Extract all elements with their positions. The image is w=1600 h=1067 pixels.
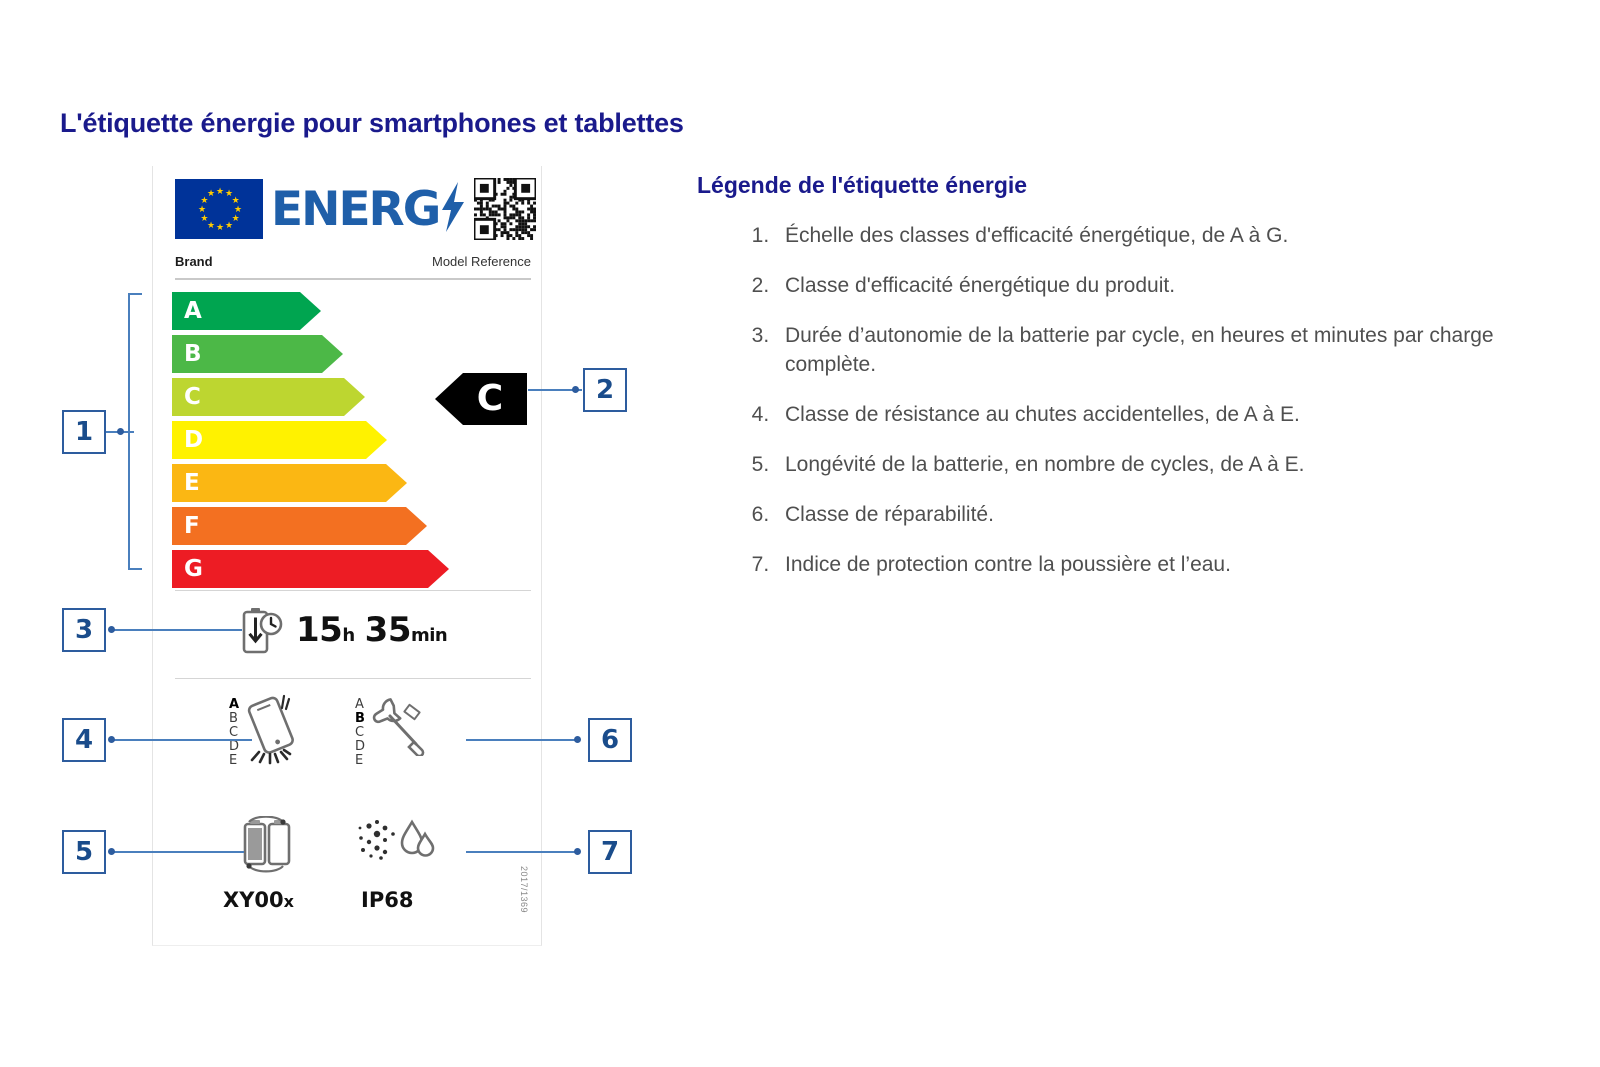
- repairability-grade-d: D: [355, 740, 365, 754]
- divider-top: [175, 278, 531, 280]
- ingress-protection-caption: IP68: [361, 888, 413, 912]
- drop-resistance-grade-c: C: [229, 726, 239, 740]
- repairability-grade-scale: ABCDE: [355, 694, 365, 768]
- drop-resistance-cell: ABCDE: [229, 694, 300, 771]
- cycles-suffix: x: [284, 892, 294, 911]
- battery-runtime-row: 15h35min: [239, 606, 447, 659]
- callout-7[interactable]: 7: [588, 830, 632, 874]
- model-reference: Model Reference: [432, 254, 531, 269]
- bar-tip: [344, 378, 365, 416]
- callout-3-dot: [108, 626, 115, 633]
- callout-1[interactable]: 1: [62, 410, 106, 454]
- eu-star-icon: ★: [207, 190, 213, 196]
- eu-star-icon: ★: [200, 197, 206, 203]
- repairability-cell: ABCDE: [355, 694, 432, 768]
- selected-class-letter: C: [477, 381, 503, 417]
- bar-tip: [428, 550, 449, 588]
- bar-body: G: [172, 550, 428, 588]
- eu-flag-icon: ★★★★★★★★★★★★: [175, 179, 263, 239]
- page-root: L'étiquette énergie pour smartphones et …: [0, 0, 1600, 1067]
- callout-5-dot: [108, 848, 115, 855]
- legend-panel: Légende de l'étiquette énergie Échelle d…: [697, 172, 1527, 600]
- eu-star-icon: ★: [198, 206, 204, 212]
- qr-code-icon: [474, 178, 536, 240]
- page-title: L'étiquette énergie pour smartphones et …: [60, 108, 684, 139]
- callout-3[interactable]: 3: [62, 608, 106, 652]
- battery-cycles-caption: XY00x: [223, 888, 294, 912]
- energy-class-bar-e: E: [172, 464, 407, 502]
- bar-body: D: [172, 421, 366, 459]
- repairability-grade-c: C: [355, 726, 365, 740]
- brand-name: Brand: [175, 254, 213, 269]
- bar-tip: [386, 464, 407, 502]
- battery-cycles-icon: [231, 816, 301, 881]
- dust-water-icon: [353, 816, 437, 879]
- callout-4[interactable]: 4: [62, 718, 106, 762]
- energy-class-row: C: [172, 378, 402, 416]
- legend-title: Légende de l'étiquette énergie: [697, 172, 1527, 199]
- arrow-tip: [435, 373, 463, 425]
- legend-item-7: Indice de protection contre la poussière…: [775, 550, 1527, 579]
- label-header: ★★★★★★★★★★★★ ENERG: [175, 178, 531, 240]
- bar-tip: [366, 421, 387, 459]
- energy-class-letter: C: [184, 384, 201, 410]
- drop-resistance-grade-a: A: [229, 698, 239, 712]
- callout-4-leader: [110, 739, 252, 741]
- energy-class-bar-b: B: [172, 335, 343, 373]
- selected-energy-class-arrow: C: [435, 373, 527, 425]
- cycles-value: XY00: [223, 888, 284, 912]
- drop-resistance-grade-scale: ABCDE: [229, 694, 239, 768]
- runtime-hours-value: 15: [296, 610, 342, 650]
- drop-resistance-grade-d: D: [229, 740, 239, 754]
- callout-7-dot: [574, 848, 581, 855]
- energy-class-letter: E: [184, 470, 200, 496]
- wrench-screwdriver-icon: [370, 694, 432, 761]
- legend-item-2: Classe d'efficacité énergétique du produ…: [775, 271, 1527, 300]
- repairability-grade-b: B: [355, 712, 365, 726]
- callout-5[interactable]: 5: [62, 830, 106, 874]
- energ-wordmark: ENERG: [271, 186, 439, 233]
- energy-class-row: B: [172, 335, 402, 373]
- regulation-reference: 2017/1369: [519, 866, 529, 913]
- runtime-minutes-value: 35: [365, 610, 411, 650]
- legend-item-1: Échelle des classes d'efficacité énergét…: [775, 221, 1527, 250]
- energy-class-letter: F: [184, 513, 200, 539]
- eu-star-icon: ★: [232, 197, 238, 203]
- energy-class-letter: A: [184, 298, 202, 324]
- callout-4-dot: [108, 736, 115, 743]
- bar-body: E: [172, 464, 386, 502]
- runtime-minutes-unit: min: [411, 625, 447, 646]
- runtime-hours-unit: h: [342, 625, 354, 646]
- bar-tip: [300, 292, 321, 330]
- legend-list: Échelle des classes d'efficacité énergét…: [697, 221, 1527, 579]
- energy-class-letter: B: [184, 341, 202, 367]
- bar-tip: [406, 507, 427, 545]
- callout-6[interactable]: 6: [588, 718, 632, 762]
- bar-body: C: [172, 378, 344, 416]
- repairability-grade-a: A: [355, 698, 365, 712]
- callout-7-leader: [466, 851, 578, 853]
- legend-item-6: Classe de réparabilité.: [775, 500, 1527, 529]
- eu-star-icon: ★: [200, 215, 206, 221]
- repairability-grade-e: E: [355, 754, 365, 768]
- divider-lower: [175, 678, 531, 679]
- callout-1-dot: [117, 428, 124, 435]
- drop-resistance-grade-b: B: [229, 712, 239, 726]
- bar-tip: [322, 335, 343, 373]
- energy-class-row: F: [172, 507, 402, 545]
- ingress-protection-cell: [353, 816, 437, 879]
- energy-class-bar-d: D: [172, 421, 387, 459]
- eu-star-icon: ★: [216, 188, 222, 194]
- eu-star-icon: ★: [225, 222, 231, 228]
- drop-resistance-grade-e: E: [229, 754, 239, 768]
- brand-row: Brand Model Reference: [175, 254, 531, 269]
- legend-item-3: Durée d’autonomie de la batterie par cyc…: [775, 321, 1527, 379]
- energy-class-row: G: [172, 550, 402, 588]
- divider-middle: [175, 590, 531, 591]
- callout-5-leader: [110, 851, 244, 853]
- energy-class-row: A: [172, 292, 402, 330]
- legend-item-4: Classe de résistance au chutes accidente…: [775, 400, 1527, 429]
- battery-runtime-text: 15h35min: [296, 613, 447, 653]
- energy-class-bar-c: C: [172, 378, 365, 416]
- eu-star-icon: ★: [216, 224, 222, 230]
- energy-class-bar-g: G: [172, 550, 449, 588]
- energy-class-row: D: [172, 421, 402, 459]
- callout-3-leader: [110, 629, 242, 631]
- callout-2[interactable]: 2: [583, 368, 627, 412]
- battery-cycles-cell: [231, 816, 301, 881]
- energy-class-row: E: [172, 464, 402, 502]
- eu-star-icon: ★: [225, 190, 231, 196]
- callout-6-leader: [466, 739, 578, 741]
- arrow-body: C: [463, 373, 527, 425]
- eu-star-icon: ★: [234, 206, 240, 212]
- callout-6-dot: [574, 736, 581, 743]
- energy-class-bar-a: A: [172, 292, 321, 330]
- bar-body: B: [172, 335, 322, 373]
- bar-body: A: [172, 292, 300, 330]
- callout-2-dot: [572, 386, 579, 393]
- energy-class-scale: ABCDEFG: [172, 292, 402, 593]
- battery-clock-icon: [239, 606, 283, 659]
- energy-class-letter: G: [184, 556, 203, 582]
- energy-label-panel: ★★★★★★★★★★★★ ENERG Brand Model Reference…: [152, 166, 542, 946]
- bar-body: F: [172, 507, 406, 545]
- legend-item-5: Longévité de la batterie, en nombre de c…: [775, 450, 1527, 479]
- energy-class-letter: D: [184, 427, 203, 453]
- cracked-phone-icon: [244, 694, 300, 771]
- energy-class-bar-f: F: [172, 507, 427, 545]
- lightning-bolt-icon: [440, 182, 466, 237]
